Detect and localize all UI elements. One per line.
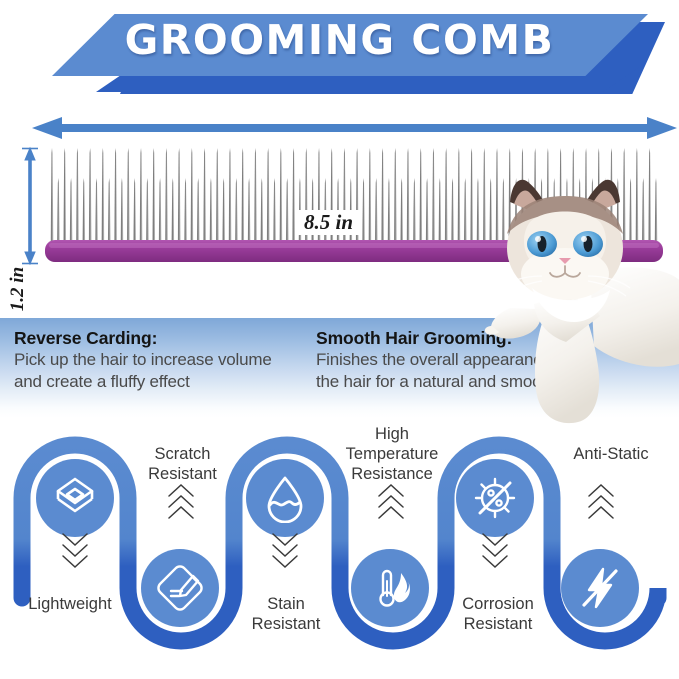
feature-title: Smooth Hair Grooming: — [316, 328, 616, 349]
chevron-down-icon-lightweight — [56, 528, 94, 577]
label-line-1: Lightweight — [5, 594, 135, 614]
benefit-icon-high-temperature-resistance[interactable] — [351, 549, 429, 627]
comb-diagram — [0, 100, 679, 300]
label-line-1: Stain — [226, 594, 346, 614]
label-line-3: Resistance — [328, 464, 456, 484]
label-line-2: Resistant — [130, 464, 235, 484]
benefit-label-high-temperature-resistance: High Temperature Resistance — [328, 424, 456, 484]
feature-body-line-2: and create a fluffy effect — [14, 371, 314, 393]
benefit-icon-corrosion-resistant[interactable] — [456, 459, 534, 537]
benefit-label-scratch-resistant: Scratch Resistant — [130, 444, 235, 484]
chevron-up-icon-anti-static — [582, 480, 620, 529]
chevron-down-icon-stain — [266, 528, 304, 577]
benefit-icon-lightweight[interactable] — [36, 459, 114, 537]
chevron-up-icon-scratch — [162, 480, 200, 529]
product-infographic: GROOMING COMB — [0, 0, 679, 679]
feature-block-smooth-hair-grooming: Smooth Hair Grooming: Finishes the overa… — [316, 328, 616, 392]
benefit-icon-scratch-resistant[interactable] — [141, 549, 219, 627]
benefits-wave-section: Lightweight Scratch Resistant Stain Resi… — [0, 428, 679, 679]
label-line-1: Corrosion — [436, 594, 560, 614]
feature-title: Reverse Carding: — [14, 328, 314, 349]
chevron-down-icon-corrosion — [476, 528, 514, 577]
thermometer-flame-icon — [365, 563, 415, 613]
width-dimension-label: 8.5 in — [297, 210, 360, 235]
benefit-label-stain-resistant: Stain Resistant — [226, 594, 346, 634]
feature-text-panel: Reverse Carding: Pick up the hair to inc… — [0, 318, 679, 418]
label-line-1: Scratch — [130, 444, 235, 464]
comb-base-bar — [45, 240, 663, 262]
label-line-2: Resistant — [226, 614, 346, 634]
header-banner: GROOMING COMB — [0, 0, 679, 100]
feature-body-line-2: the hair for a natural and smooth — [316, 371, 616, 393]
height-dimension-arrow — [22, 148, 38, 264]
feature-body-line-1: Finishes the overall appearance of — [316, 349, 616, 371]
label-line-2: Temperature — [328, 444, 456, 464]
width-dimension-arrow — [32, 117, 677, 139]
benefit-label-lightweight: Lightweight — [5, 594, 135, 614]
feature-block-reverse-carding: Reverse Carding: Pick up the hair to inc… — [14, 328, 314, 392]
diamond-pencil-icon — [155, 563, 205, 613]
lightning-slash-icon — [575, 563, 625, 613]
layered-cube-icon — [50, 473, 100, 523]
feature-body-line-1: Pick up the hair to increase volume — [14, 349, 314, 371]
page-title: GROOMING COMB — [0, 16, 679, 64]
chevron-up-icon-high-temperature — [372, 480, 410, 529]
label-line-1: High — [328, 424, 456, 444]
benefit-label-corrosion-resistant: Corrosion Resistant — [436, 594, 560, 634]
benefit-icon-stain-resistant[interactable] — [246, 459, 324, 537]
label-line-2: Resistant — [436, 614, 560, 634]
product-illustration: 8.5 in 1.2 in — [0, 100, 679, 300]
water-drop-icon — [261, 473, 309, 523]
germ-slash-icon — [470, 473, 520, 523]
benefit-label-anti-static: Anti-Static — [548, 444, 674, 464]
height-dimension-label: 1.2 in — [7, 259, 29, 319]
benefit-icon-anti-static[interactable] — [561, 549, 639, 627]
label-line-1: Anti-Static — [548, 444, 674, 464]
